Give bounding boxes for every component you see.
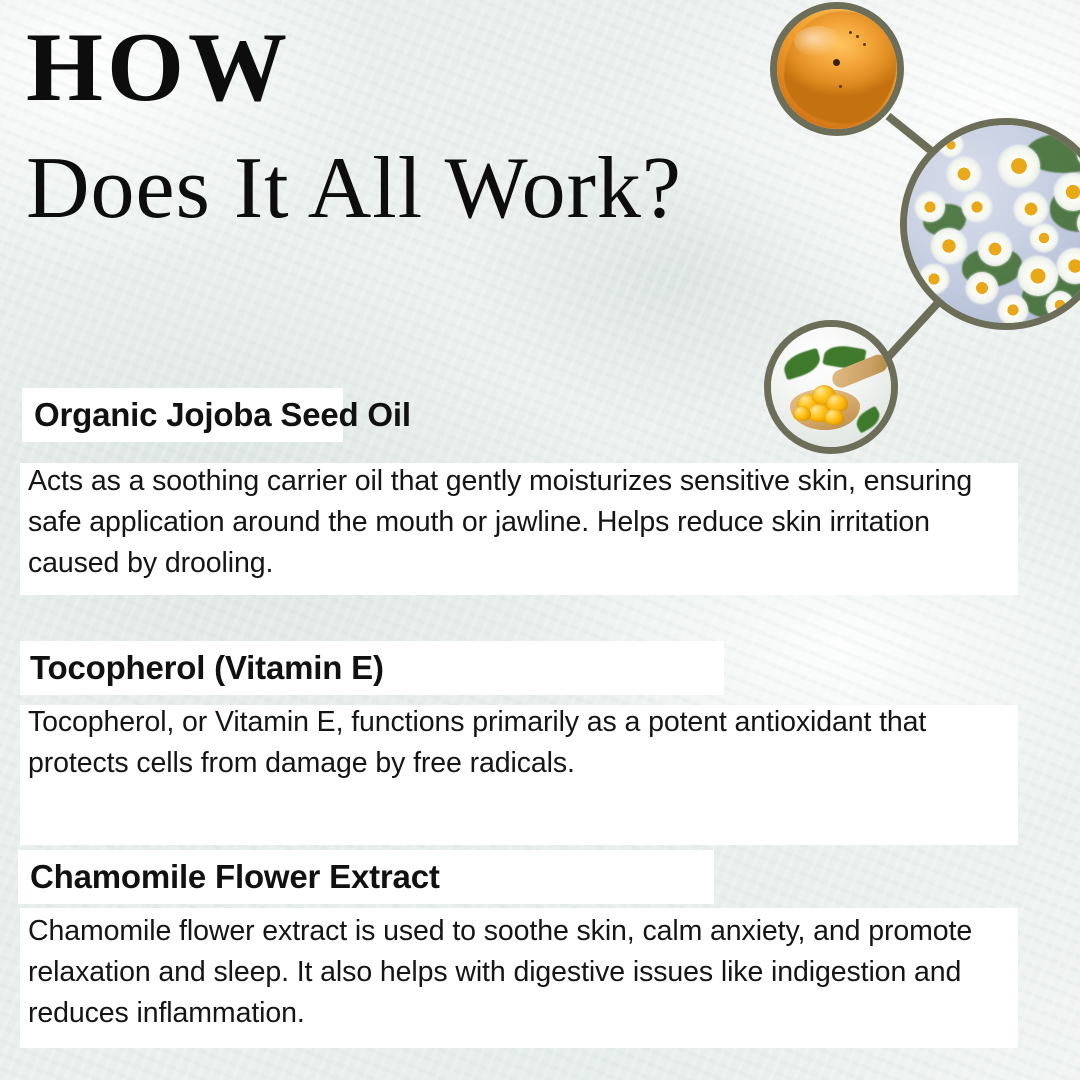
honey-oil-photo (770, 2, 904, 136)
ingredient-body-chamomile: Chamomile flower extract is used to soot… (28, 911, 998, 1034)
ingredient-heading-chamomile: Chamomile Flower Extract (30, 850, 440, 904)
ingredient-heading-jojoba: Organic Jojoba Seed Oil (34, 388, 411, 442)
ingredient-photo-cluster (740, 0, 1080, 464)
ingredient-body-jojoba: Acts as a soothing carrier oil that gent… (28, 461, 998, 584)
ingredient-heading-tocopherol: Tocopherol (Vitamin E) (30, 641, 384, 695)
ingredient-body-tocopherol: Tocopherol, or Vitamin E, functions prim… (28, 702, 998, 784)
chamomile-flowers-photo (900, 118, 1080, 330)
vitamin-e-capsules-photo (764, 320, 898, 454)
poster-canvas: HOW Does It All Work? (0, 0, 1080, 1080)
